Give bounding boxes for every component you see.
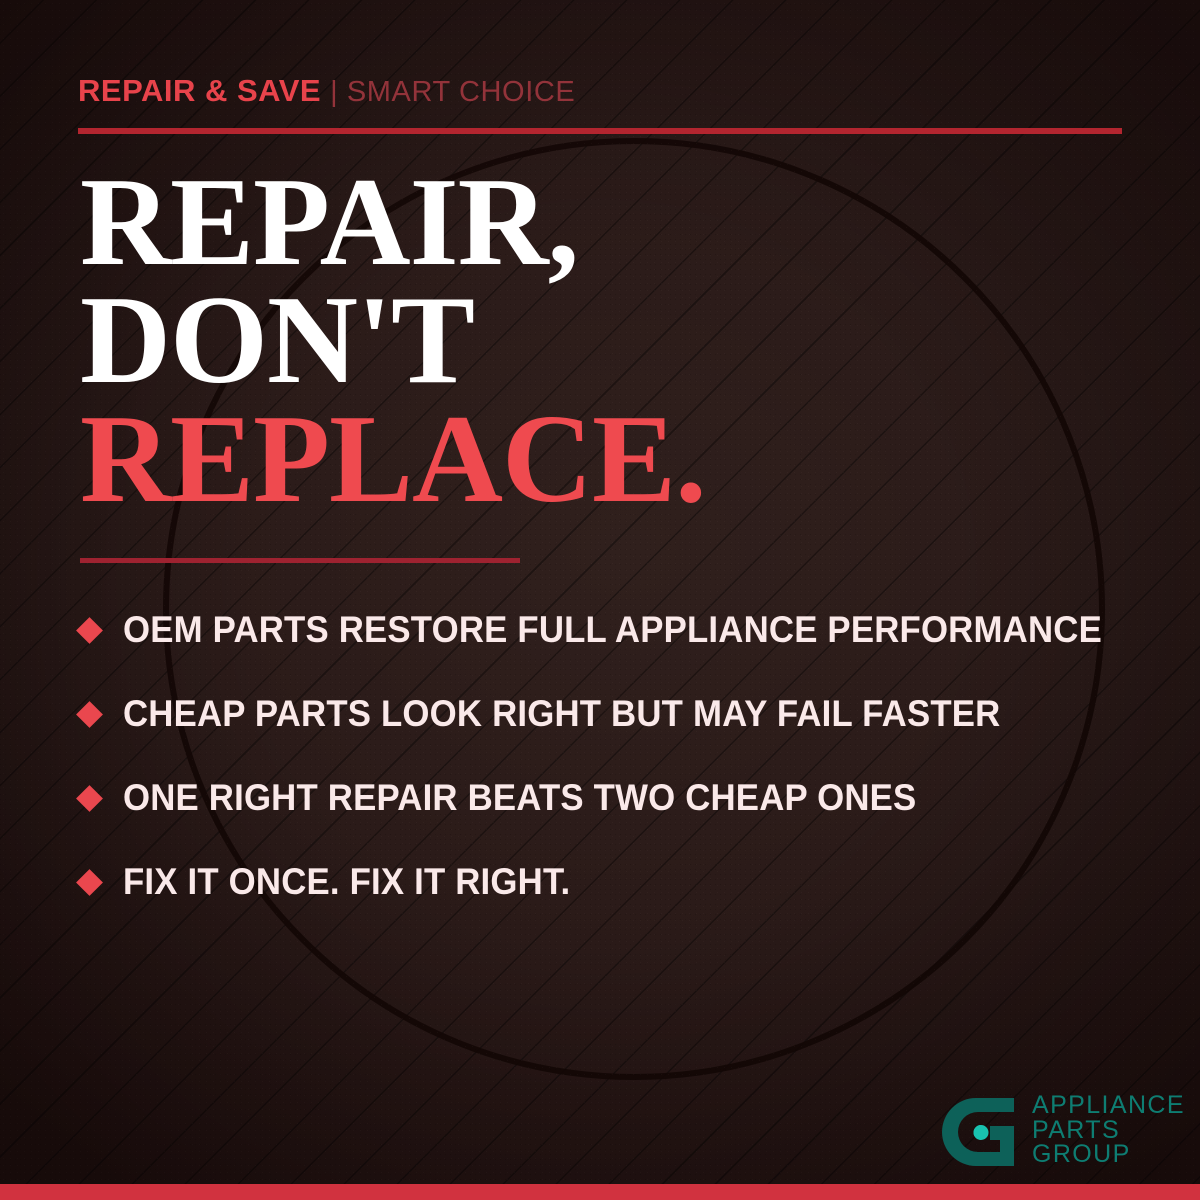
list-item-label: CHEAP PARTS LOOK RIGHT BUT MAY FAIL FAST… — [123, 693, 1000, 735]
brand-logo-line-2: PARTS — [1032, 1118, 1185, 1143]
brand-logo-line-3: GROUP — [1032, 1142, 1185, 1167]
brand-logo: APPLIANCE PARTS GROUP — [940, 1092, 1185, 1177]
headline-line-3: REPLACE. — [80, 401, 706, 519]
list-item: CHEAP PARTS LOOK RIGHT BUT MAY FAIL FAST… — [80, 672, 1150, 756]
headline-divider-rule — [80, 558, 520, 563]
headline-line-2: DON'T — [80, 282, 706, 400]
list-item-label: FIX IT ONCE. FIX IT RIGHT. — [123, 861, 570, 903]
g-monogram-icon — [940, 1092, 1020, 1177]
list-item: ONE RIGHT REPAIR BEATS TWO CHEAP ONES — [80, 756, 1150, 840]
diamond-bullet-icon — [76, 785, 103, 812]
diamond-bullet-icon — [76, 617, 103, 644]
benefits-list: OEM PARTS RESTORE FULL APPLIANCE PERFORM… — [80, 588, 1150, 924]
list-item-label: ONE RIGHT REPAIR BEATS TWO CHEAP ONES — [123, 777, 916, 819]
list-item: FIX IT ONCE. FIX IT RIGHT. — [80, 840, 1150, 924]
eyebrow-sub-label: | SMART CHOICE — [330, 76, 575, 108]
list-item: OEM PARTS RESTORE FULL APPLIANCE PERFORM… — [80, 588, 1150, 672]
poster-content: REPAIR & SAVE| SMART CHOICE REPAIR, DON'… — [0, 0, 1200, 1200]
brand-logo-line-1: APPLIANCE — [1032, 1093, 1185, 1118]
footer-accent-bar — [0, 1184, 1200, 1200]
brand-logo-wordmark: APPLIANCE PARTS GROUP — [1032, 1093, 1185, 1167]
headline-line-1: REPAIR, — [80, 164, 706, 282]
eyebrow-main-label: REPAIR & SAVE — [78, 73, 321, 108]
headline: REPAIR, DON'T REPLACE. — [80, 164, 706, 519]
diamond-bullet-icon — [76, 869, 103, 896]
eyebrow: REPAIR & SAVE| SMART CHOICE — [78, 73, 575, 109]
diamond-bullet-icon — [76, 701, 103, 728]
header-divider-rule — [78, 128, 1122, 134]
list-item-label: OEM PARTS RESTORE FULL APPLIANCE PERFORM… — [123, 609, 1102, 651]
poster-canvas: REPAIR & SAVE| SMART CHOICE REPAIR, DON'… — [0, 0, 1200, 1200]
